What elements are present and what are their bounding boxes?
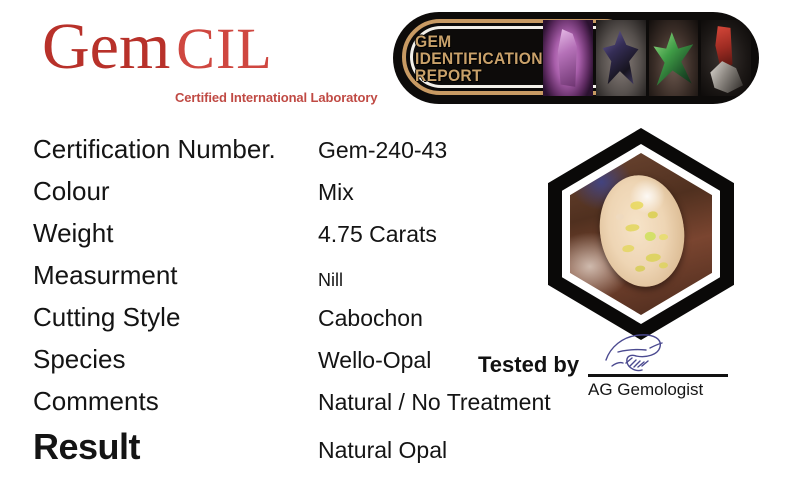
amethyst-crystal-photo	[543, 20, 593, 96]
tested-by-role: AG Gemologist	[588, 380, 703, 400]
opal-cabochon-photo	[548, 128, 734, 340]
play-of-color-flake	[647, 211, 658, 219]
field-value-colour: Mix	[318, 176, 354, 208]
brand-lockup: GemCIL Certified International Laborator…	[42, 14, 387, 80]
brand-cil-text: CIL	[176, 16, 272, 81]
brand-tagline: Certified International Laboratory	[175, 90, 377, 105]
dark-purple-crystal-cluster-photo	[596, 20, 646, 96]
field-row-weight: Weight 4.75 Carats	[33, 216, 578, 258]
field-label-certification-number: Certification Number.	[33, 132, 276, 166]
field-value-cutting-style: Cabochon	[318, 302, 423, 334]
field-label-species: Species	[33, 342, 126, 376]
field-value-weight: 4.75 Carats	[318, 218, 437, 250]
field-label-weight: Weight	[33, 216, 113, 250]
play-of-color-flake	[644, 231, 656, 241]
field-value-certification-number: Gem-240-43	[318, 134, 447, 166]
certificate-field-list: Certification Number. Gem-240-43 Colour …	[33, 132, 578, 478]
field-label-measurment: Measurment	[33, 258, 178, 292]
field-row-result: Result Natural Opal	[33, 426, 578, 478]
handwritten-signature	[596, 330, 682, 376]
play-of-color-flake	[630, 201, 644, 211]
field-row-cutting-style: Cutting Style Cabochon	[33, 300, 578, 342]
tested-by-label: Tested by	[478, 352, 579, 378]
field-value-measurment: Nill	[318, 264, 343, 296]
gem-identification-report-banner: GEM IDENTIFICATION REPORT	[393, 12, 759, 104]
report-title-line-2: IDENTIFICATION	[415, 50, 555, 67]
play-of-color-flake	[635, 265, 646, 272]
brand-gem-text: Gem	[42, 10, 170, 83]
field-row-certification-number: Certification Number. Gem-240-43	[33, 132, 578, 174]
report-title-line-3: REPORT	[415, 67, 555, 84]
tested-by-block: Tested by AG Gemologist	[478, 352, 728, 410]
play-of-color-flake	[615, 213, 624, 220]
field-label-comments: Comments	[33, 384, 159, 418]
field-label-cutting-style: Cutting Style	[33, 300, 180, 334]
field-value-result: Natural Opal	[318, 434, 447, 466]
gem-thumbnail-strip	[543, 20, 751, 96]
field-value-species: Wello-Opal	[318, 344, 431, 376]
field-label-colour: Colour	[33, 174, 110, 208]
signature-underline	[588, 374, 728, 377]
play-of-color-flake	[622, 244, 635, 253]
green-crystal-star-photo	[649, 20, 699, 96]
play-of-color-flake	[645, 253, 661, 263]
field-row-colour: Colour Mix	[33, 174, 578, 216]
red-black-crystal-specimen-photo	[701, 20, 751, 96]
play-of-color-flake	[659, 262, 669, 269]
report-title-line-1: GEM	[415, 33, 555, 50]
field-label-result: Result	[33, 426, 140, 468]
opal-stone	[593, 170, 692, 293]
field-row-measurment: Measurment Nill	[33, 258, 578, 300]
certificate-header: GemCIL Certified International Laborator…	[0, 0, 800, 120]
brand-wordmark: GemCIL	[42, 14, 387, 80]
play-of-color-flake	[659, 233, 669, 240]
play-of-color-flake	[625, 223, 640, 232]
